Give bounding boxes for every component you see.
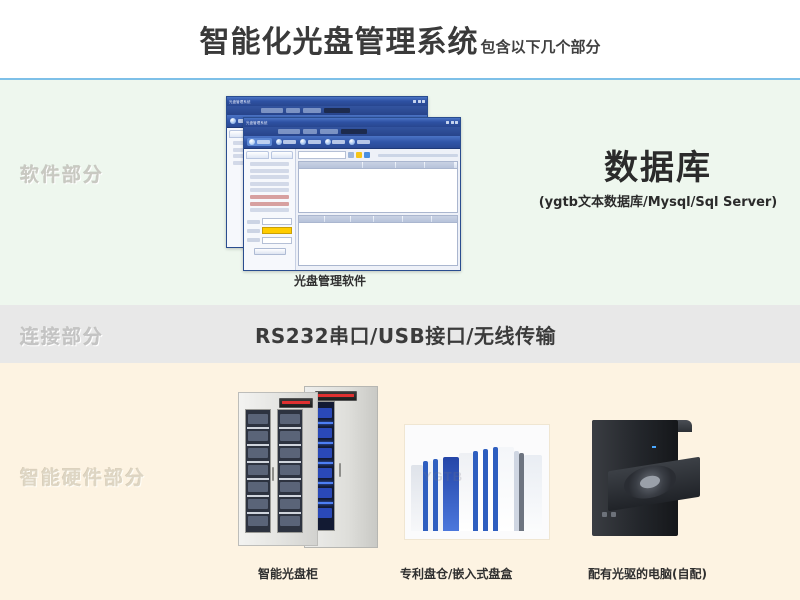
shelf [247, 495, 269, 497]
menu-tab[interactable] [278, 129, 300, 134]
disc-tray [248, 516, 268, 526]
shelf [247, 427, 269, 429]
sidebar-list-item[interactable] [250, 169, 289, 173]
photo-watermark: YGTB [423, 469, 463, 484]
power-button[interactable] [602, 512, 607, 517]
shelf [279, 478, 301, 480]
poster-root: 智能化光盘管理系统 包含以下几个部分 软件部分 光盘管理系统 [0, 0, 800, 600]
toolbar-label [357, 140, 370, 144]
section-label-software: 软件部分 [20, 160, 104, 187]
grid-rows [299, 169, 457, 212]
database-subtitle: (ygtb文本数据库/Mysql/Sql Server) [516, 191, 800, 210]
sidebar-tabs [246, 151, 293, 159]
cabinet-handle[interactable] [339, 463, 341, 477]
toolbar-icon [276, 139, 282, 145]
pc-front-buttons [602, 512, 616, 517]
search-bar-front [298, 151, 458, 159]
maximize-icon[interactable] [451, 121, 454, 124]
photo-disc-cartridge: YGTB [404, 424, 550, 540]
cabinet-left [238, 392, 318, 546]
menu-tab[interactable] [303, 129, 317, 134]
form-input[interactable] [262, 218, 293, 225]
grid-column [299, 216, 324, 222]
cartridge-block [459, 453, 473, 531]
minimize-icon[interactable] [413, 100, 416, 103]
menu-tab[interactable] [303, 108, 321, 113]
disc-tray [280, 431, 300, 441]
page-title: 智能化光盘管理系统 包含以下几个部分 [199, 17, 600, 61]
grid-column [396, 162, 424, 168]
caption-hardware-1: 智能光盘柜 [258, 565, 318, 582]
database-block: 数据库 (ygtb文本数据库/Mysql/Sql Server) [516, 150, 800, 210]
power-led-icon [652, 446, 656, 448]
minimize-icon[interactable] [446, 121, 449, 124]
menu-tab-active[interactable] [341, 129, 367, 134]
grid-column [425, 162, 453, 168]
toolbar-label [257, 140, 270, 144]
toolbar-label [308, 140, 321, 144]
cabinet-led-display [315, 391, 357, 401]
cabinet-glass-door [245, 409, 271, 533]
grid-rows [299, 223, 457, 266]
led-bar [282, 401, 310, 404]
toolbar-icon [349, 139, 355, 145]
window-title-front: 光盘管理系统 [246, 120, 268, 125]
results-grid-lower[interactable] [298, 215, 458, 267]
shelf [247, 478, 269, 480]
app-window-front: 光盘管理系统 [243, 117, 461, 271]
toolbar-button[interactable] [276, 139, 297, 145]
search-input[interactable] [298, 151, 346, 159]
disc-tray [280, 499, 300, 509]
form-row-highlighted [247, 227, 292, 234]
sidebar-form [246, 218, 293, 254]
disc-tray [280, 414, 300, 424]
disc-tray [248, 499, 268, 509]
page-header: 智能化光盘管理系统 包含以下几个部分 [0, 0, 800, 78]
toolbar-icon [325, 139, 331, 145]
window-body-front [244, 149, 460, 270]
sidebar-list-item[interactable] [250, 162, 289, 166]
grid-header [299, 216, 457, 223]
close-icon[interactable] [455, 121, 458, 124]
toolbar-button[interactable] [349, 139, 370, 145]
shelf [247, 444, 269, 446]
form-row [247, 237, 292, 244]
form-input[interactable] [262, 237, 293, 244]
page-title-main: 智能化光盘管理系统 [199, 17, 478, 61]
disc-tray [280, 482, 300, 492]
cabinet-handle[interactable] [272, 467, 274, 481]
eject-button[interactable] [611, 512, 616, 517]
results-grid-upper[interactable] [298, 161, 458, 213]
toolbar-icon [230, 118, 236, 124]
sidebar-front [244, 149, 296, 270]
menu-tabs-back [227, 106, 427, 115]
caption-hardware-3: 配有光驱的电脑(自配) [588, 565, 707, 582]
browse-icon[interactable] [348, 152, 354, 158]
photo-smart-disc-cabinet [216, 378, 388, 556]
menu-tab[interactable] [320, 129, 338, 134]
disc-tray [248, 482, 268, 492]
form-label [247, 238, 260, 242]
grid-column [363, 162, 395, 168]
menu-tabs-front [244, 127, 460, 136]
page-title-sub: 包含以下几个部分 [480, 36, 600, 57]
menu-tab-active[interactable] [324, 108, 350, 113]
form-input-active[interactable] [262, 227, 293, 234]
toolbar-icon [249, 139, 255, 145]
toolbar-front [244, 136, 460, 149]
section-label-connection: 连接部分 [20, 322, 104, 349]
connection-methods-text: RS232串口/USB接口/无线传输 [255, 320, 556, 349]
disc-tray [280, 516, 300, 526]
toolbar-icon [300, 139, 306, 145]
disc-tray [248, 465, 268, 475]
grid-column [403, 216, 431, 222]
disc-tray [248, 448, 268, 458]
form-submit-button[interactable] [254, 248, 286, 255]
cabinet-led-display [279, 398, 313, 408]
disc-tray [280, 465, 300, 475]
sidebar-list-item[interactable] [250, 188, 289, 192]
search-icon[interactable] [364, 152, 370, 158]
toolbar-button[interactable] [300, 139, 321, 145]
grid-column [299, 162, 362, 168]
menu-tab[interactable] [261, 108, 283, 113]
close-icon[interactable] [422, 100, 425, 103]
sidebar-list-item[interactable] [250, 182, 289, 186]
maximize-icon[interactable] [418, 100, 421, 103]
cartridge-fin [411, 465, 423, 531]
sidebar-tab[interactable] [246, 151, 269, 159]
cartridge-block [498, 447, 514, 531]
window-controls-front [446, 121, 458, 124]
shelf [279, 461, 301, 463]
toolbar-label [283, 140, 296, 144]
grid-column [374, 216, 402, 222]
shelf [279, 495, 301, 497]
led-bar [318, 394, 354, 397]
form-label [247, 220, 260, 224]
sidebar-list-item-alert[interactable] [250, 202, 289, 206]
caption-hardware-2: 专利盘仓/嵌入式盘盒 [400, 565, 512, 582]
window-titlebar-back: 光盘管理系统 [227, 97, 427, 106]
shelf [247, 461, 269, 463]
section-label-hardware: 智能硬件部分 [20, 463, 146, 490]
disc-tray [248, 431, 268, 441]
disc-tray [280, 448, 300, 458]
form-row [247, 218, 292, 225]
photo-pc-with-optical-drive [578, 412, 718, 542]
disc-tray [248, 414, 268, 424]
grid-column [325, 216, 350, 222]
status-hint [378, 154, 458, 157]
database-title: 数据库 [516, 150, 800, 187]
toolbar-button-active[interactable] [247, 138, 272, 146]
grid-column [351, 216, 373, 222]
folder-icon[interactable] [356, 152, 362, 158]
cabinet-glass-door [277, 409, 303, 533]
shelf [279, 427, 301, 429]
sidebar-list-item[interactable] [250, 175, 289, 179]
grid-column [432, 216, 457, 222]
grid-header [299, 162, 457, 169]
shelf [247, 512, 269, 514]
toolbar-button[interactable] [325, 139, 346, 145]
content-area-front [296, 149, 460, 270]
form-label [247, 229, 260, 233]
sidebar-tab[interactable] [271, 151, 294, 159]
cartridge-block [524, 455, 542, 531]
window-controls-back [413, 100, 425, 103]
shelf [279, 512, 301, 514]
menu-tab[interactable] [286, 108, 300, 113]
sidebar-list-item-alert[interactable] [250, 195, 289, 199]
window-titlebar-front: 光盘管理系统 [244, 118, 460, 127]
shelf [279, 444, 301, 446]
caption-software: 光盘管理软件 [294, 272, 366, 289]
sidebar-list-item[interactable] [250, 208, 289, 212]
toolbar-label [332, 140, 345, 144]
window-title-back: 光盘管理系统 [229, 99, 251, 104]
